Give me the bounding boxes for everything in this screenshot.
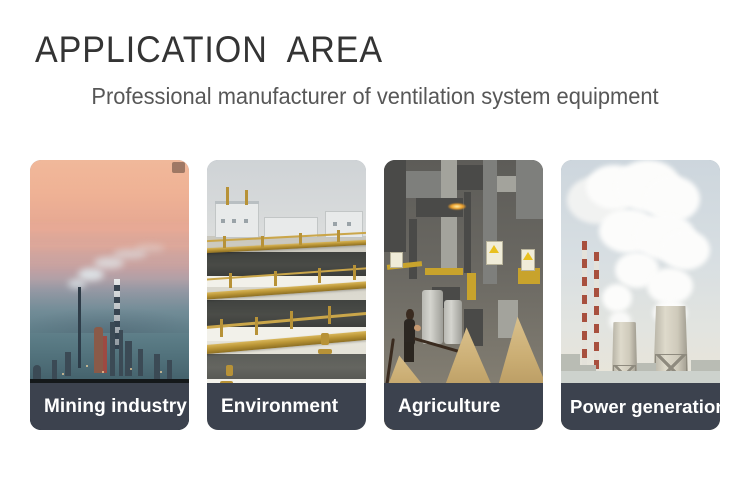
- application-card-power-generation[interactable]: Power generation: [561, 160, 720, 430]
- application-card-agriculture[interactable]: Agriculture: [384, 160, 543, 430]
- card-label-power-generation: Power generation: [561, 383, 720, 430]
- page-subtitle: Professional manufacturer of ventilation…: [19, 82, 732, 110]
- page-title: APPLICATION AREA: [35, 28, 693, 72]
- application-area-section: APPLICATION AREA Professional manufactur…: [0, 0, 750, 500]
- section-header: APPLICATION AREA Professional manufactur…: [0, 0, 750, 110]
- application-card-environment[interactable]: Environment: [207, 160, 366, 430]
- card-label-environment: Environment: [207, 383, 366, 430]
- card-label-agriculture: Agriculture: [384, 383, 543, 430]
- card-label-mining-industry: Mining industry: [30, 383, 189, 430]
- application-card-mining-industry[interactable]: Mining industry: [30, 160, 189, 430]
- image-watermark-icon: [172, 162, 185, 173]
- application-card-grid: Mining industry: [30, 160, 720, 430]
